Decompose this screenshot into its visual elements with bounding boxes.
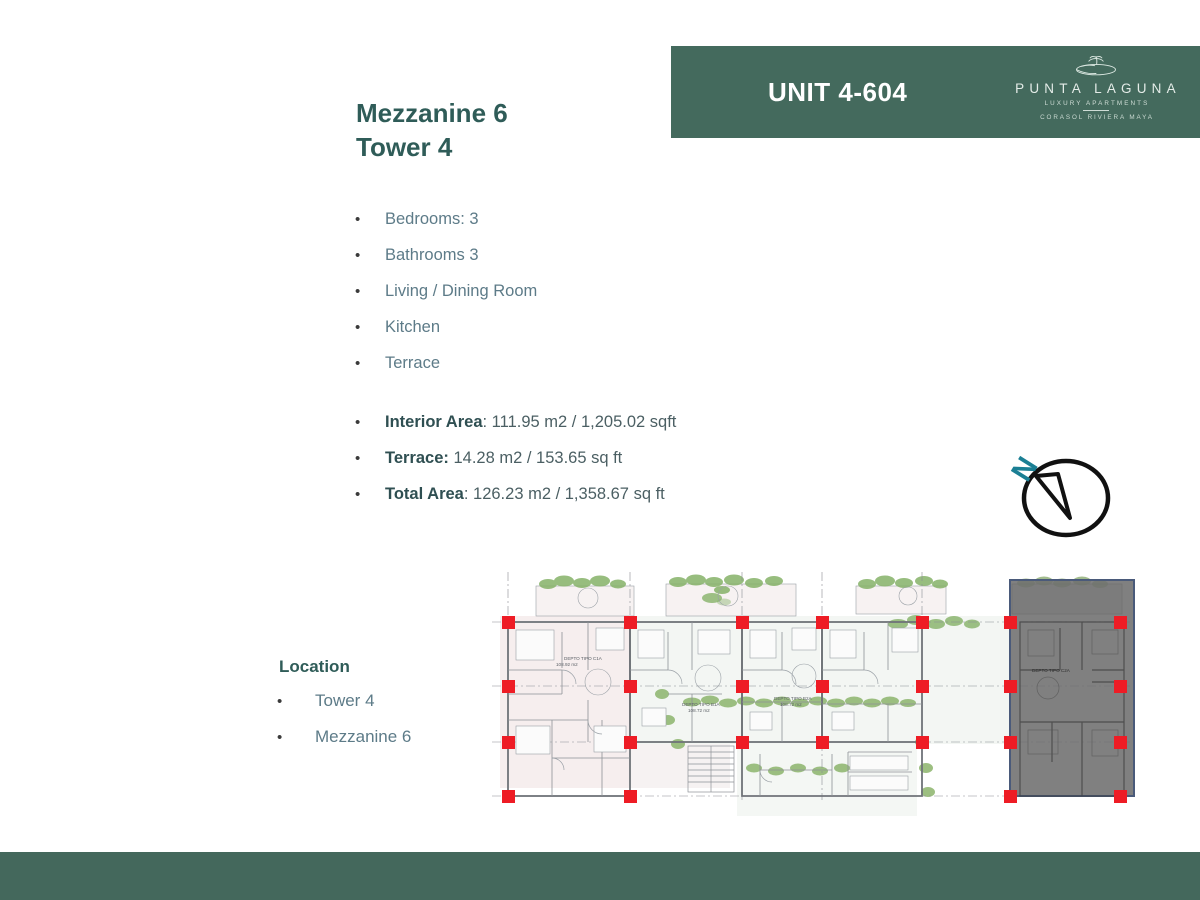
bullet-icon: • — [355, 212, 385, 227]
page-title: Mezzanine 6 Tower 4 — [356, 96, 508, 164]
unit-area-label: 108.92 m2 — [556, 662, 578, 667]
area-row: Total Area: 126.23 m2 / 1,358.67 sq ft — [385, 485, 665, 504]
brand-divider — [1083, 110, 1109, 111]
list-item: • Bathrooms 3 — [355, 246, 537, 282]
list-item: • Mezzanine 6 — [277, 727, 411, 763]
bullet-icon: • — [355, 320, 385, 335]
list-item: • Terrace — [355, 354, 537, 390]
page-title-line1: Mezzanine 6 — [356, 96, 508, 130]
area-value: : 111.95 m2 / 1,205.02 sqft — [483, 413, 677, 431]
area-label: Terrace: — [385, 449, 449, 467]
list-item: • Bedrooms: 3 — [355, 210, 537, 246]
areas-list: • Interior Area: 111.95 m2 / 1,205.02 sq… — [355, 413, 676, 521]
bullet-icon: • — [355, 356, 385, 371]
features-list: • Bedrooms: 3 • Bathrooms 3 • Living / D… — [355, 210, 537, 390]
bullet-icon: • — [355, 284, 385, 299]
feature-label: Terrace — [385, 354, 440, 373]
compass-needle-icon — [1036, 474, 1070, 518]
unit-type-label: DEPTO TIPO C1A — [564, 656, 603, 661]
list-item: • Kitchen — [355, 318, 537, 354]
bullet-icon: • — [355, 487, 385, 502]
location-heading: Location — [279, 657, 350, 677]
compass-rose: N — [1000, 440, 1120, 545]
brand-logo: PUNTA LAGUNA LUXURY APARTMENTS CORASOL R… — [1001, 54, 1191, 121]
page-title-line2: Tower 4 — [356, 130, 508, 164]
area-label: Interior Area — [385, 413, 483, 431]
unit-type-label: DEPTO TIPO C2A — [1032, 668, 1071, 673]
bullet-icon: • — [355, 415, 385, 430]
feature-label: Kitchen — [385, 318, 440, 337]
list-item: • Living / Dining Room — [355, 282, 537, 318]
floorplan-svg[interactable]: DEPTO TIPO C2A DEPTO TIPO C1A 108.92 m2 … — [492, 572, 1138, 817]
bullet-icon: • — [355, 451, 385, 466]
unit-title: UNIT 4-604 — [768, 77, 907, 108]
area-row: Terrace: 14.28 m2 / 153.65 sq ft — [385, 449, 622, 468]
unit-area-label: 108.72 m2 — [688, 708, 710, 713]
palm-lagoon-logo-icon — [1036, 54, 1156, 80]
feature-label: Bathrooms 3 — [385, 246, 479, 265]
area-value: : 126.23 m2 / 1,358.67 sq ft — [464, 485, 665, 503]
brand-region: CORASOL RIVIERA MAYA — [1003, 114, 1191, 121]
location-list: • Tower 4 • Mezzanine 6 — [277, 691, 411, 763]
list-item: • Terrace: 14.28 m2 / 153.65 sq ft — [355, 449, 676, 485]
brand-tagline: LUXURY APARTMENTS — [1003, 100, 1191, 107]
area-row: Interior Area: 111.95 m2 / 1,205.02 sqft — [385, 413, 676, 432]
header-banner: UNIT 4-604 PUNTA LAGUNA LUXURY APARTMENT… — [671, 46, 1200, 138]
footer-bar — [0, 852, 1200, 900]
brand-name: PUNTA LAGUNA — [1005, 81, 1191, 96]
unit-type-label: DEPTO TIPO B2A — [774, 696, 813, 701]
list-item: • Interior Area: 111.95 m2 / 1,205.02 sq… — [355, 413, 676, 449]
feature-label: Living / Dining Room — [385, 282, 537, 301]
unit-type-label: DEPTO TIPO B1A — [682, 702, 721, 707]
location-label: Mezzanine 6 — [315, 727, 411, 747]
floorplan-drawing[interactable]: DEPTO TIPO C2A DEPTO TIPO C1A 108.92 m2 … — [492, 572, 1138, 817]
list-item: • Tower 4 — [277, 691, 411, 727]
bullet-icon: • — [277, 730, 315, 745]
bullet-icon: • — [355, 248, 385, 263]
area-label: Total Area — [385, 485, 464, 503]
feature-label: Bedrooms: 3 — [385, 210, 479, 229]
area-value: 14.28 m2 / 153.65 sq ft — [449, 449, 622, 467]
unit-area-label: 108.72 m2 — [780, 702, 802, 707]
location-label: Tower 4 — [315, 691, 375, 711]
list-item: • Total Area: 126.23 m2 / 1,358.67 sq ft — [355, 485, 676, 521]
bullet-icon: • — [277, 694, 315, 709]
